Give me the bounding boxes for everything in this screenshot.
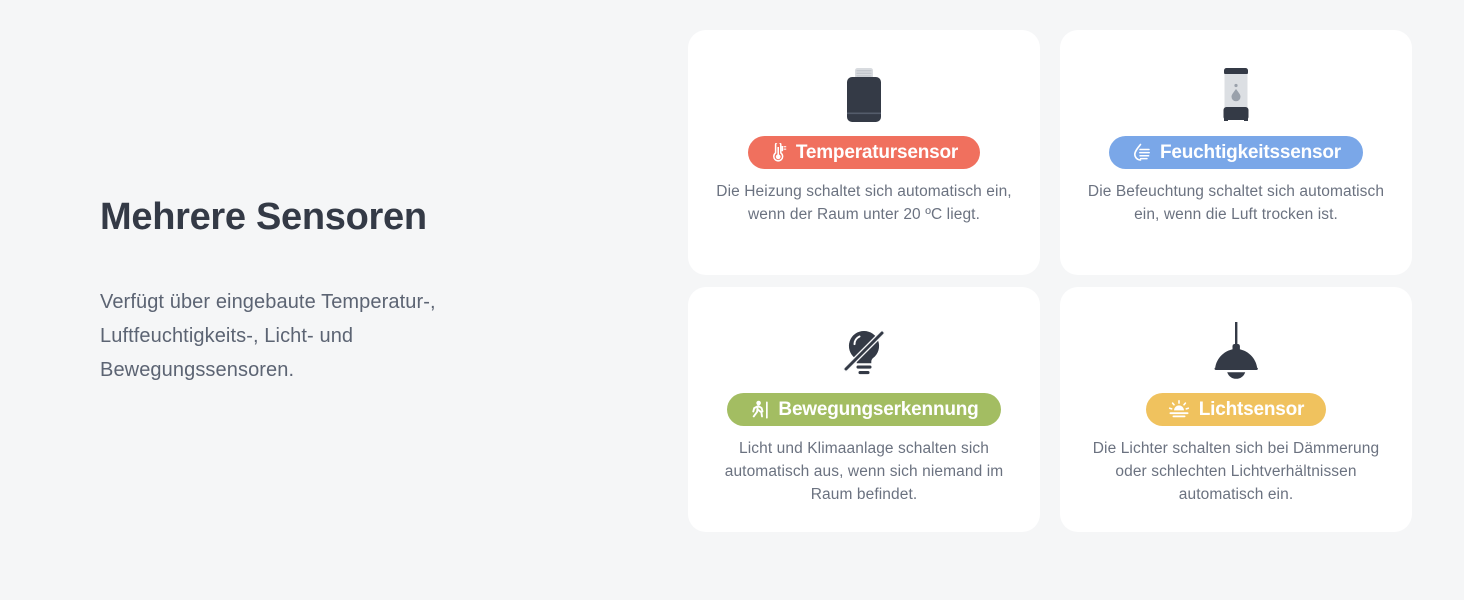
badge-humidity-label: Feuchtigkeitssensor	[1160, 142, 1341, 164]
sensor-card-humidity-description: Die Befeuchtung schaltet sich automatisc…	[1082, 181, 1390, 227]
sensor-card-light[interactable]: Lichtsensor Die Lichter schalten sich be…	[1060, 287, 1412, 532]
badge-motion[interactable]: Bewegungserkennung	[727, 393, 1000, 426]
sensors-feature-section: Mehrere Sensoren Verfügt über eingebaute…	[0, 0, 1464, 600]
humidifier-icon	[1219, 56, 1253, 136]
badge-humidity[interactable]: Feuchtigkeitssensor	[1109, 136, 1363, 169]
badge-temperature-label: Temperatursensor	[796, 142, 958, 164]
thermometer-icon	[770, 143, 787, 162]
badge-light-label: Lichtsensor	[1199, 399, 1305, 421]
badge-light[interactable]: Lichtsensor	[1146, 393, 1327, 426]
intro-block: Mehrere Sensoren Verfügt über eingebaute…	[100, 195, 600, 387]
sunrise-icon	[1168, 400, 1190, 419]
sensor-card-humidity[interactable]: Feuchtigkeitssensor Die Befeuchtung scha…	[1060, 30, 1412, 275]
humidity-droplet-icon	[1131, 143, 1151, 162]
sensor-card-light-description: Die Lichter schalten sich bei Dämmerung …	[1082, 438, 1390, 507]
sensor-card-temperature[interactable]: Temperatursensor Die Heizung schaltet si…	[688, 30, 1040, 275]
thermostat-valve-icon	[842, 56, 886, 136]
running-person-icon	[749, 400, 769, 420]
badge-temperature[interactable]: Temperatursensor	[748, 136, 980, 169]
sensor-card-grid: Temperatursensor Die Heizung schaltet si…	[688, 30, 1412, 532]
pendant-lamp-icon	[1209, 313, 1263, 393]
sensor-card-motion[interactable]: Bewegungserkennung Licht und Klimaanlage…	[688, 287, 1040, 532]
sensor-card-motion-description: Licht und Klimaanlage schalten sich auto…	[710, 438, 1018, 507]
sensor-card-temperature-description: Die Heizung schaltet sich automatisch ei…	[710, 181, 1018, 227]
page-title: Mehrere Sensoren	[100, 195, 600, 241]
lightbulb-off-icon	[837, 313, 891, 393]
intro-subtitle: Verfügt über eingebaute Temperatur-, Luf…	[100, 285, 500, 387]
badge-motion-label: Bewegungserkennung	[778, 399, 978, 421]
